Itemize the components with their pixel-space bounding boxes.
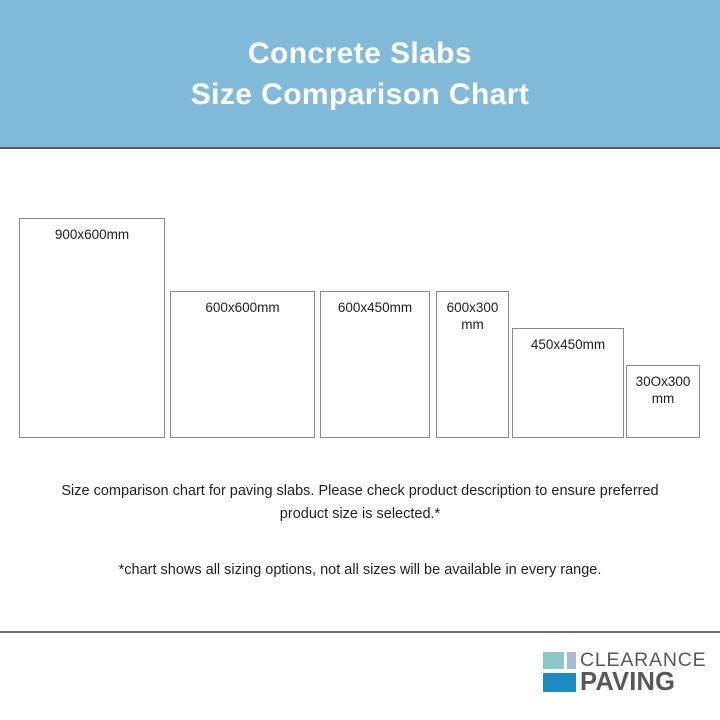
slab-size-label: 900x600mm	[20, 219, 164, 243]
slab-size-label: 600x600mm	[171, 292, 314, 316]
header-banner: Concrete Slabs Size Comparison Chart	[0, 0, 720, 147]
caption-primary: Size comparison chart for paving slabs. …	[40, 480, 680, 526]
slab-rect: 600x300 mm	[436, 291, 509, 438]
slab-size-label: 30Ox300 mm	[627, 366, 699, 407]
caption-block: Size comparison chart for paving slabs. …	[0, 480, 720, 582]
logo-word-paving: PAVING	[580, 670, 707, 695]
logo-squares-icon	[542, 650, 576, 694]
slab-rect: 600x450mm	[320, 291, 430, 438]
slab-size-label: 450x450mm	[513, 329, 623, 353]
slab-chart: 900x600mm600x600mm600x450mm600x300 mm450…	[0, 149, 720, 449]
slab-rect: 30Ox300 mm	[626, 365, 700, 438]
slab-rect: 900x600mm	[19, 218, 165, 438]
logo-wordmark: CLEARANCE PAVING	[580, 650, 707, 696]
brand-logo: CLEARANCE PAVING	[542, 650, 707, 696]
size-comparison-chart-page: Concrete Slabs Size Comparison Chart 900…	[0, 0, 720, 720]
divider-bottom	[0, 631, 720, 633]
slab-rect: 600x600mm	[170, 291, 315, 438]
slab-size-label: 600x300 mm	[437, 292, 508, 333]
page-title-line-2: Size Comparison Chart	[191, 74, 529, 115]
page-title-line-1: Concrete Slabs	[248, 33, 472, 74]
slab-rect: 450x450mm	[512, 328, 624, 438]
logo-square-bottom-icon	[543, 673, 576, 692]
slab-size-label: 600x450mm	[321, 292, 429, 316]
logo-square-top-left-icon	[543, 652, 564, 669]
logo-square-top-right-icon	[567, 652, 576, 669]
caption-footnote: *chart shows all sizing options, not all…	[30, 559, 690, 582]
